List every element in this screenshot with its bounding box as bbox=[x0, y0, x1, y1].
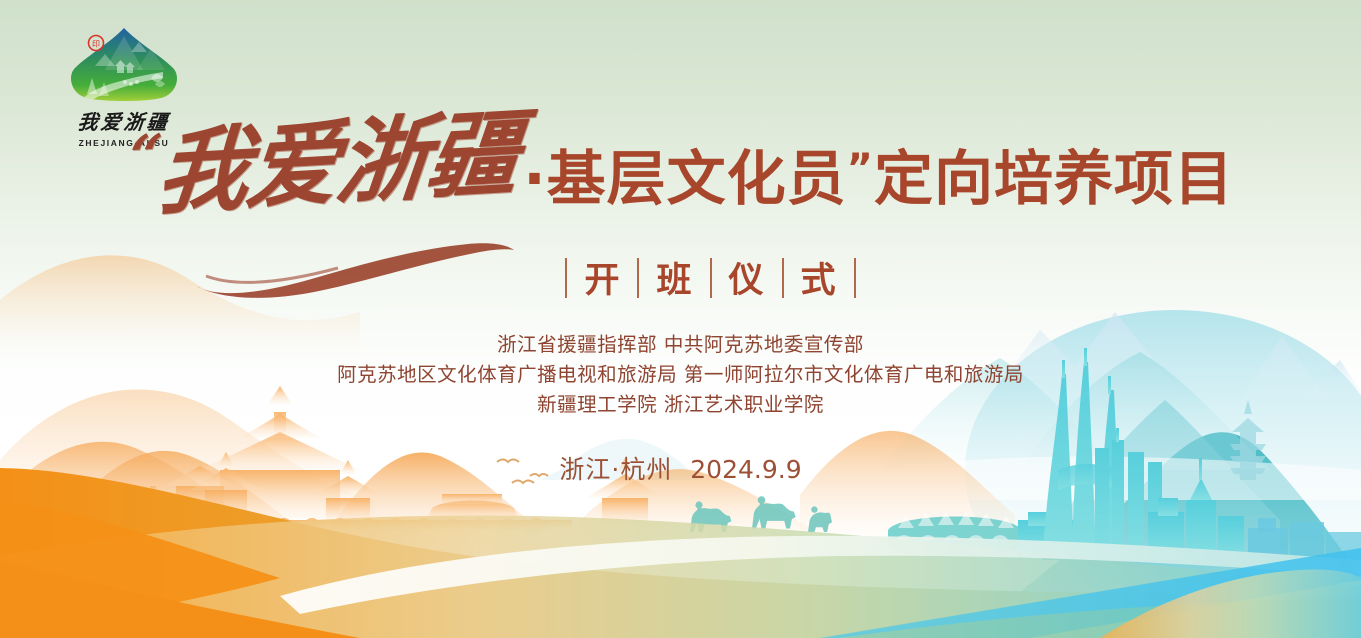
event-location-date: 浙江·杭州 2024.9.9 bbox=[0, 450, 1361, 486]
event-poster-banner: 印 我爱浙疆 ZHEJIANG·AKSU “我爱浙疆 ·基层文化员”定向培养项目… bbox=[0, 0, 1361, 638]
event-date: 2024.9.9 bbox=[690, 455, 801, 484]
mountain-emblem-icon: 印 bbox=[65, 26, 183, 102]
ceremony-divider bbox=[854, 258, 856, 298]
title-program-tail: 定向培养项目 bbox=[874, 144, 1234, 213]
red-seal-icon: 印 bbox=[89, 36, 104, 51]
title-bold-part: ·基层文化员”定向培养项目 bbox=[523, 149, 1234, 208]
title-separator: · bbox=[523, 144, 546, 213]
ceremony-subtitle: 开 班 仪 式 bbox=[0, 252, 1361, 303]
ceremony-char-3: 仪 bbox=[729, 252, 765, 303]
organizer-line-3: 新疆理工学院 浙江艺术职业学院 bbox=[0, 390, 1361, 420]
title-program-role: 基层文化员 bbox=[547, 144, 847, 213]
event-location: 浙江·杭州 bbox=[559, 455, 672, 484]
scenery-background bbox=[0, 0, 1361, 638]
ceremony-char-1: 开 bbox=[584, 252, 620, 303]
ceremony-divider bbox=[710, 258, 712, 298]
title-close-quote: ” bbox=[847, 146, 874, 192]
svg-text:印: 印 bbox=[92, 40, 100, 49]
organizer-line-2: 阿克苏地区文化体育广播电视和旅游局 第一师阿拉尔市文化体育广电和旅游局 bbox=[0, 360, 1361, 390]
organizer-list: 浙江省援疆指挥部 中共阿克苏地委宣传部 阿克苏地区文化体育广播电视和旅游局 第一… bbox=[0, 330, 1361, 420]
title-brush-text: 我爱浙疆 bbox=[152, 99, 523, 228]
ceremony-char-2: 班 bbox=[656, 252, 692, 303]
title-brush-calligraphy: “我爱浙疆 bbox=[123, 107, 522, 221]
ceremony-divider bbox=[565, 258, 567, 298]
ceremony-divider bbox=[637, 258, 639, 298]
ceremony-divider bbox=[782, 258, 784, 298]
organizer-line-1: 浙江省援疆指挥部 中共阿克苏地委宣传部 bbox=[0, 330, 1361, 360]
main-title: “我爱浙疆 ·基层文化员”定向培养项目 bbox=[0, 126, 1361, 218]
ceremony-char-4: 式 bbox=[801, 252, 837, 303]
